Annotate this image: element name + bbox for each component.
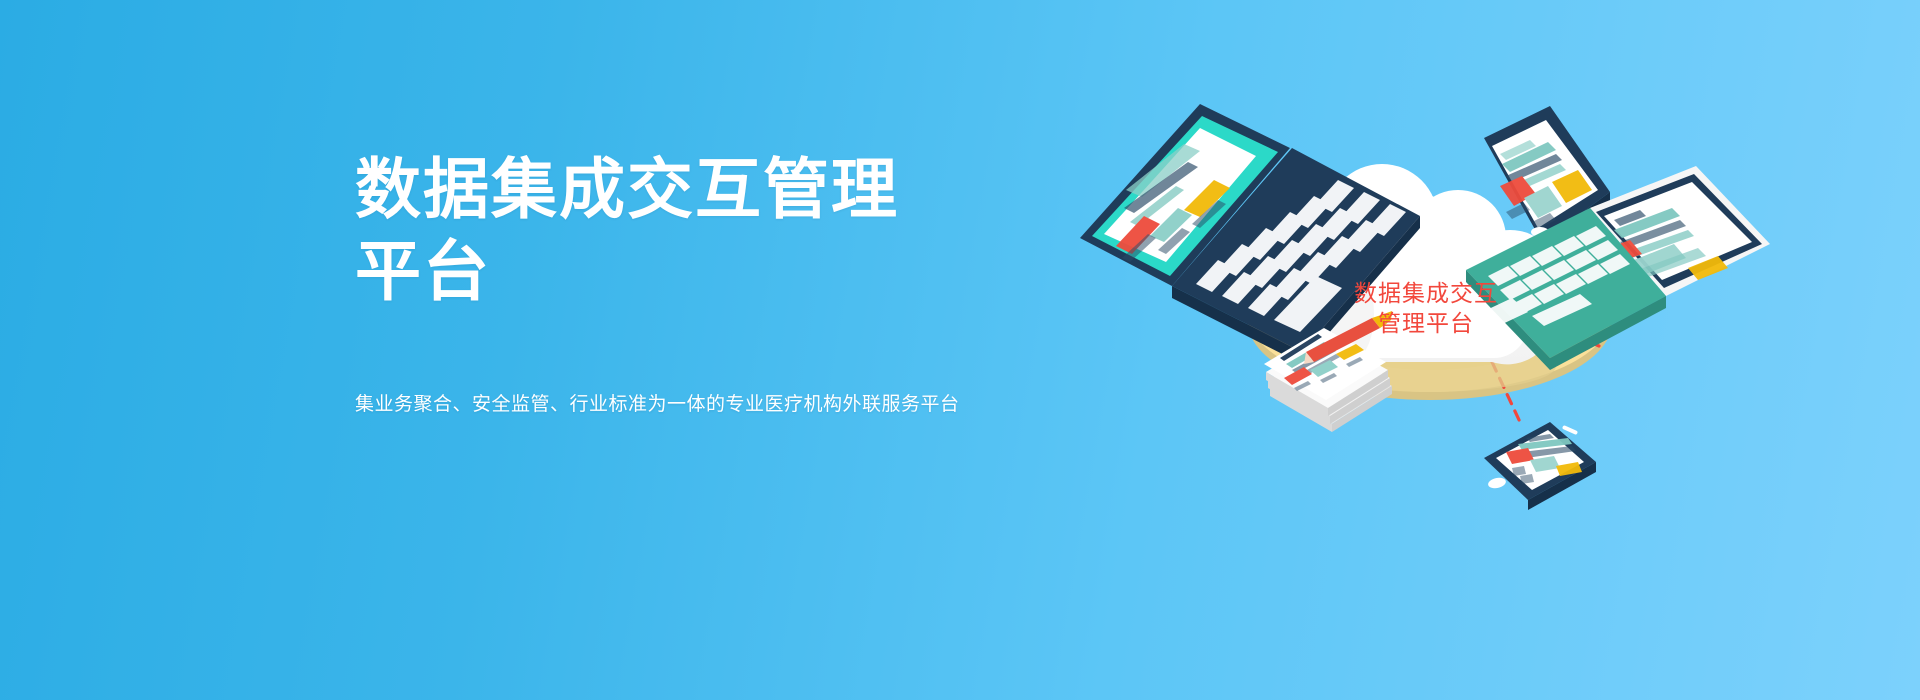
- page-title: 数据集成交互管理 平台: [355, 148, 1075, 312]
- hero-copy: 数据集成交互管理 平台: [355, 148, 1075, 312]
- hero-subtitle: 集业务聚合、安全监管、行业标准为一体的专业医疗机构外联服务平台: [355, 391, 960, 419]
- hero-banner: 数据集成交互管理 平台 集业务聚合、安全监管、行业标准为一体的专业医疗机构外联服…: [0, 0, 1920, 700]
- hero-illustration: 数据集成交互 管理平台: [1080, 70, 1860, 570]
- smartphone-icon: [1484, 422, 1596, 510]
